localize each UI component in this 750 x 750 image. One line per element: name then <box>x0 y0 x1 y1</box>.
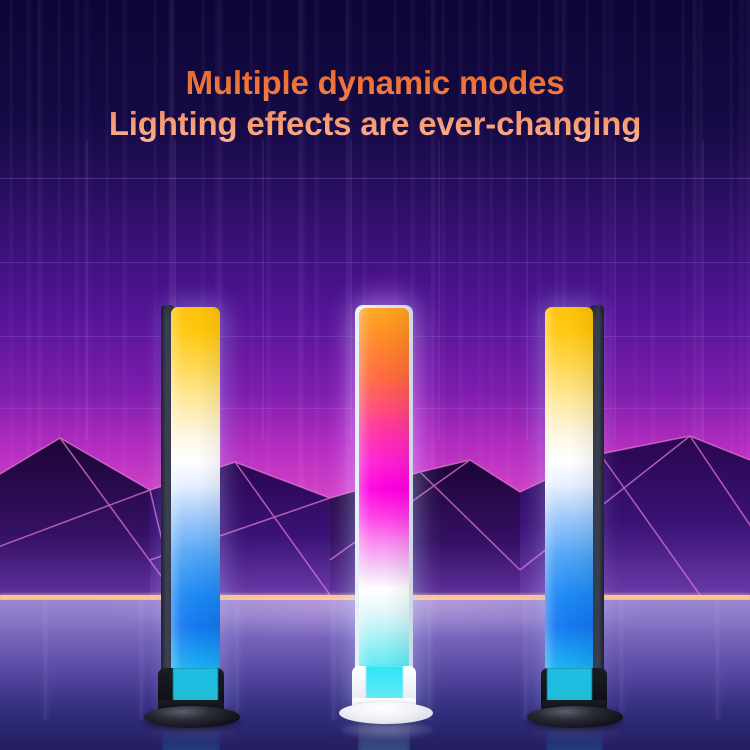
center-base-reflection <box>341 722 433 738</box>
right-bar-light-panel <box>545 307 593 711</box>
left-base-reflection <box>146 726 240 742</box>
headline-line-2: Lighting effects are ever-changing <box>0 103 750 144</box>
left-bar-light-panel <box>171 307 220 711</box>
headline: Multiple dynamic modes Lighting effects … <box>0 62 750 144</box>
left-bar-base-disc <box>144 706 240 728</box>
center-bar-base-disc <box>339 702 433 724</box>
center-bar-light-panel <box>359 308 409 710</box>
right-bar-base-disc <box>527 706 623 728</box>
product-banner: Multiple dynamic modes Lighting effects … <box>0 0 750 750</box>
headline-line-1: Multiple dynamic modes <box>0 62 750 103</box>
right-base-reflection <box>529 726 623 742</box>
